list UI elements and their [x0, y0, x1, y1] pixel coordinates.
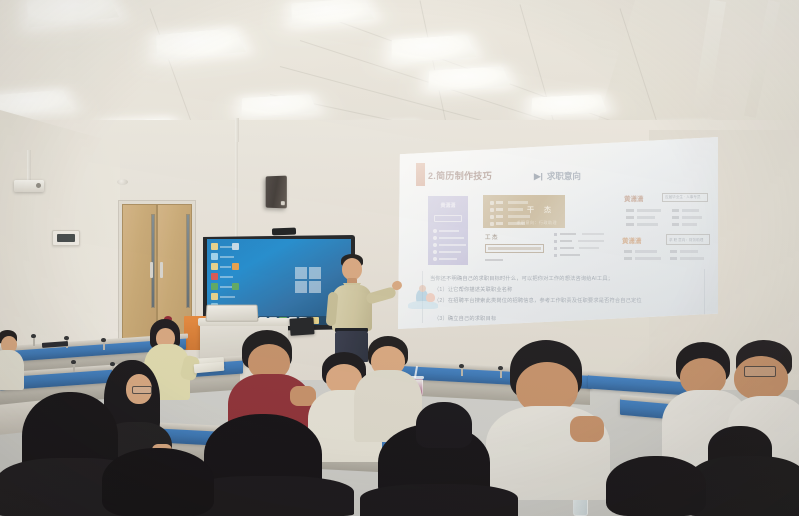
desk-microphone[interactable] — [31, 334, 36, 338]
bullet-icon — [554, 247, 557, 250]
body-line: （2）在招聘平台搜索此类岗位的招聘信息，参考工作职责及任职要求是否符合自己定位 — [434, 297, 642, 304]
resume-card-purple: 黄潇潇 — [428, 196, 468, 265]
body-line: （3）确立自己的求职目标 — [434, 315, 496, 322]
detail-line — [560, 233, 576, 235]
field-icon — [490, 215, 494, 219]
field-line — [439, 258, 457, 260]
field-value — [508, 208, 523, 211]
field-value — [508, 222, 525, 225]
desk-microphone[interactable] — [64, 336, 69, 340]
bullet-icon — [433, 229, 437, 233]
desktop-icon[interactable] — [211, 273, 218, 280]
slide-accent-bar — [416, 163, 425, 186]
field-line — [439, 244, 466, 246]
head — [734, 356, 788, 400]
desktop-icon[interactable] — [232, 263, 239, 270]
field-value — [508, 215, 530, 218]
field-label — [672, 223, 679, 226]
projector-lens — [36, 183, 41, 188]
field-label — [670, 250, 677, 253]
field-value — [637, 223, 658, 226]
section-marker-icon: ▶| — [534, 171, 543, 181]
slide-section-label: 求职意向 — [547, 171, 581, 181]
smoke-detector — [117, 179, 128, 185]
field-line — [439, 251, 461, 253]
resume-name: 黄潇潇 — [624, 193, 644, 203]
resume-card-tan: 干 杰 求职意向：行政助理 — [483, 195, 565, 228]
torso — [0, 350, 24, 390]
presenter-shirt — [332, 285, 372, 331]
field-label — [672, 216, 679, 219]
podium-laptop[interactable] — [205, 305, 258, 322]
detail-line — [560, 247, 574, 249]
resume-detail-heading: 工 杰 — [485, 233, 498, 241]
projector-mount-rod — [235, 118, 239, 142]
resume-objective-tag: 求 职 意向：财务助理 — [666, 234, 710, 245]
resume-name: 黄潇潇 — [622, 235, 642, 245]
field-value — [635, 257, 661, 260]
slide-text-divider — [704, 269, 705, 319]
detail-line — [582, 233, 604, 235]
field-label — [626, 209, 634, 212]
room-control-panel[interactable] — [52, 230, 80, 246]
slide-decoration-figure — [406, 285, 440, 315]
field-icon — [490, 222, 494, 226]
hair — [606, 456, 706, 516]
resume-card-field — [433, 243, 463, 247]
field-label — [624, 257, 632, 260]
desktop-icon-label — [220, 276, 233, 278]
field-icon — [490, 201, 494, 205]
resume-objective-text: 求 职 意向：财务助理 — [669, 238, 703, 243]
hair — [416, 402, 472, 448]
resume-card-right-top: 黄潇潇 应届毕业生 · 人事专员 — [624, 193, 710, 229]
slide-section-heading: ▶|求职意向 — [534, 170, 581, 182]
presenter-head — [342, 258, 362, 280]
desktop-icon-label — [220, 246, 232, 248]
bullet-icon — [554, 240, 557, 243]
field-value — [682, 209, 699, 212]
bullet-icon — [433, 257, 437, 261]
resume-card-objective-pill — [434, 215, 462, 222]
field-label — [496, 222, 503, 225]
detail-line — [485, 259, 503, 261]
field-label — [672, 209, 679, 212]
bullet-icon — [433, 243, 437, 247]
mic-stem — [103, 342, 105, 350]
desktop-icon-label — [220, 256, 234, 258]
audience-member — [596, 456, 720, 516]
arm — [570, 416, 604, 442]
desktop-icon-label — [220, 266, 231, 268]
field-icon — [490, 208, 494, 212]
bullet-icon — [554, 254, 557, 257]
torso — [360, 484, 518, 516]
mic-stem — [73, 364, 75, 372]
hair — [102, 448, 214, 516]
audience-member — [414, 402, 484, 454]
field-value — [680, 250, 698, 253]
resume-objective-box — [485, 244, 544, 253]
resume-card-field — [433, 229, 463, 233]
ceiling-projector — [14, 180, 44, 192]
field-value — [508, 201, 528, 204]
windows-logo-quad — [309, 267, 321, 279]
slide-title: 2.简历制作技巧 — [428, 169, 492, 182]
door-handle-left[interactable] — [150, 262, 153, 278]
resume-objective-text: 应届毕业生 · 人事专员 — [665, 195, 701, 200]
field-value — [635, 250, 657, 253]
control-panel-display — [57, 234, 75, 242]
projector-mount-rod — [235, 142, 238, 240]
resume-objective-tag: 应届毕业生 · 人事专员 — [662, 193, 708, 202]
desktop-icon-label — [220, 296, 235, 298]
desktop-icon[interactable] — [211, 263, 218, 270]
decor-figure-accent — [426, 293, 435, 302]
desktop-icon[interactable] — [211, 293, 218, 300]
desktop-icon[interactable] — [232, 283, 239, 290]
resume-card-field — [433, 250, 463, 254]
resume-detail-block-1: 工 杰 — [485, 233, 547, 265]
field-value — [680, 257, 704, 260]
field-label — [626, 216, 634, 219]
field-value — [637, 209, 661, 212]
wall-speaker — [266, 176, 287, 209]
field-label — [496, 201, 503, 204]
desktop-icon[interactable] — [232, 243, 239, 250]
door-window-left — [151, 214, 155, 308]
bullet-icon — [433, 236, 437, 240]
windows-logo-icon — [295, 267, 321, 293]
resume-card-field — [433, 257, 463, 261]
bullet-icon — [554, 233, 557, 236]
body-line: 当你还不明确自己的求职目标时什么，可以把你对工作的想法咨询给AI工具； — [430, 275, 613, 282]
projection-screen: 2.简历制作技巧 ▶|求职意向 黄潇潇 — [398, 137, 718, 329]
field-value — [682, 216, 702, 219]
projector-mount-rod — [27, 150, 31, 180]
desk-microphone[interactable] — [71, 360, 76, 364]
speaker-indicator — [281, 201, 285, 205]
audience-member — [96, 448, 226, 516]
resume-detail-block-2 — [554, 232, 612, 262]
field-line — [439, 230, 459, 232]
mic-stem — [33, 338, 35, 346]
field-label — [624, 250, 632, 253]
field-line — [439, 237, 464, 239]
objective-text-line — [488, 247, 541, 250]
windows-logo-quad — [295, 267, 307, 279]
detail-line — [560, 254, 580, 256]
field-value — [637, 216, 655, 219]
windows-logo-quad — [309, 281, 321, 293]
desktop-icon[interactable] — [211, 283, 218, 290]
desktop-icon[interactable] — [211, 243, 218, 250]
bullet-icon — [433, 250, 437, 254]
resume-card-field — [433, 236, 463, 240]
field-label — [626, 223, 634, 226]
glasses — [744, 366, 776, 377]
field-label — [496, 208, 503, 211]
resume-card-name: 干 杰 — [527, 205, 555, 215]
ifp-camera-module — [272, 228, 296, 236]
desktop-icon[interactable] — [211, 253, 218, 260]
body-line: （1）让它帮你描述关联职业名称 — [434, 286, 513, 293]
windows-logo-quad — [295, 281, 307, 293]
decor-figure-head — [419, 285, 426, 292]
field-label — [670, 257, 677, 260]
desk-microphone[interactable] — [459, 364, 464, 368]
lecture-hall-photo: 2.简历制作技巧 ▶|求职意向 黄潇潇 — [0, 0, 799, 516]
detail-line — [579, 247, 599, 249]
audience-member — [0, 330, 30, 390]
field-value — [682, 223, 697, 226]
decor-figure-accent — [408, 301, 438, 309]
detail-line — [578, 240, 604, 242]
projection-surface: 2.简历制作技巧 ▶|求职意向 黄潇潇 — [398, 137, 718, 329]
presentation-slide: 2.简历制作技巧 ▶|求职意向 黄潇潇 — [398, 137, 718, 329]
resume-card-right-bottom: 黄潇潇 求 职 意向：财务助理 — [622, 235, 710, 265]
resume-card-name: 黄潇潇 — [428, 202, 468, 209]
desk-microphone[interactable] — [101, 338, 106, 342]
door-handle-right[interactable] — [160, 262, 163, 278]
field-label — [496, 215, 503, 218]
desktop-icon-label — [220, 286, 232, 288]
mic-stem — [461, 368, 463, 376]
door-window-right — [186, 214, 190, 308]
detail-line — [560, 240, 572, 242]
